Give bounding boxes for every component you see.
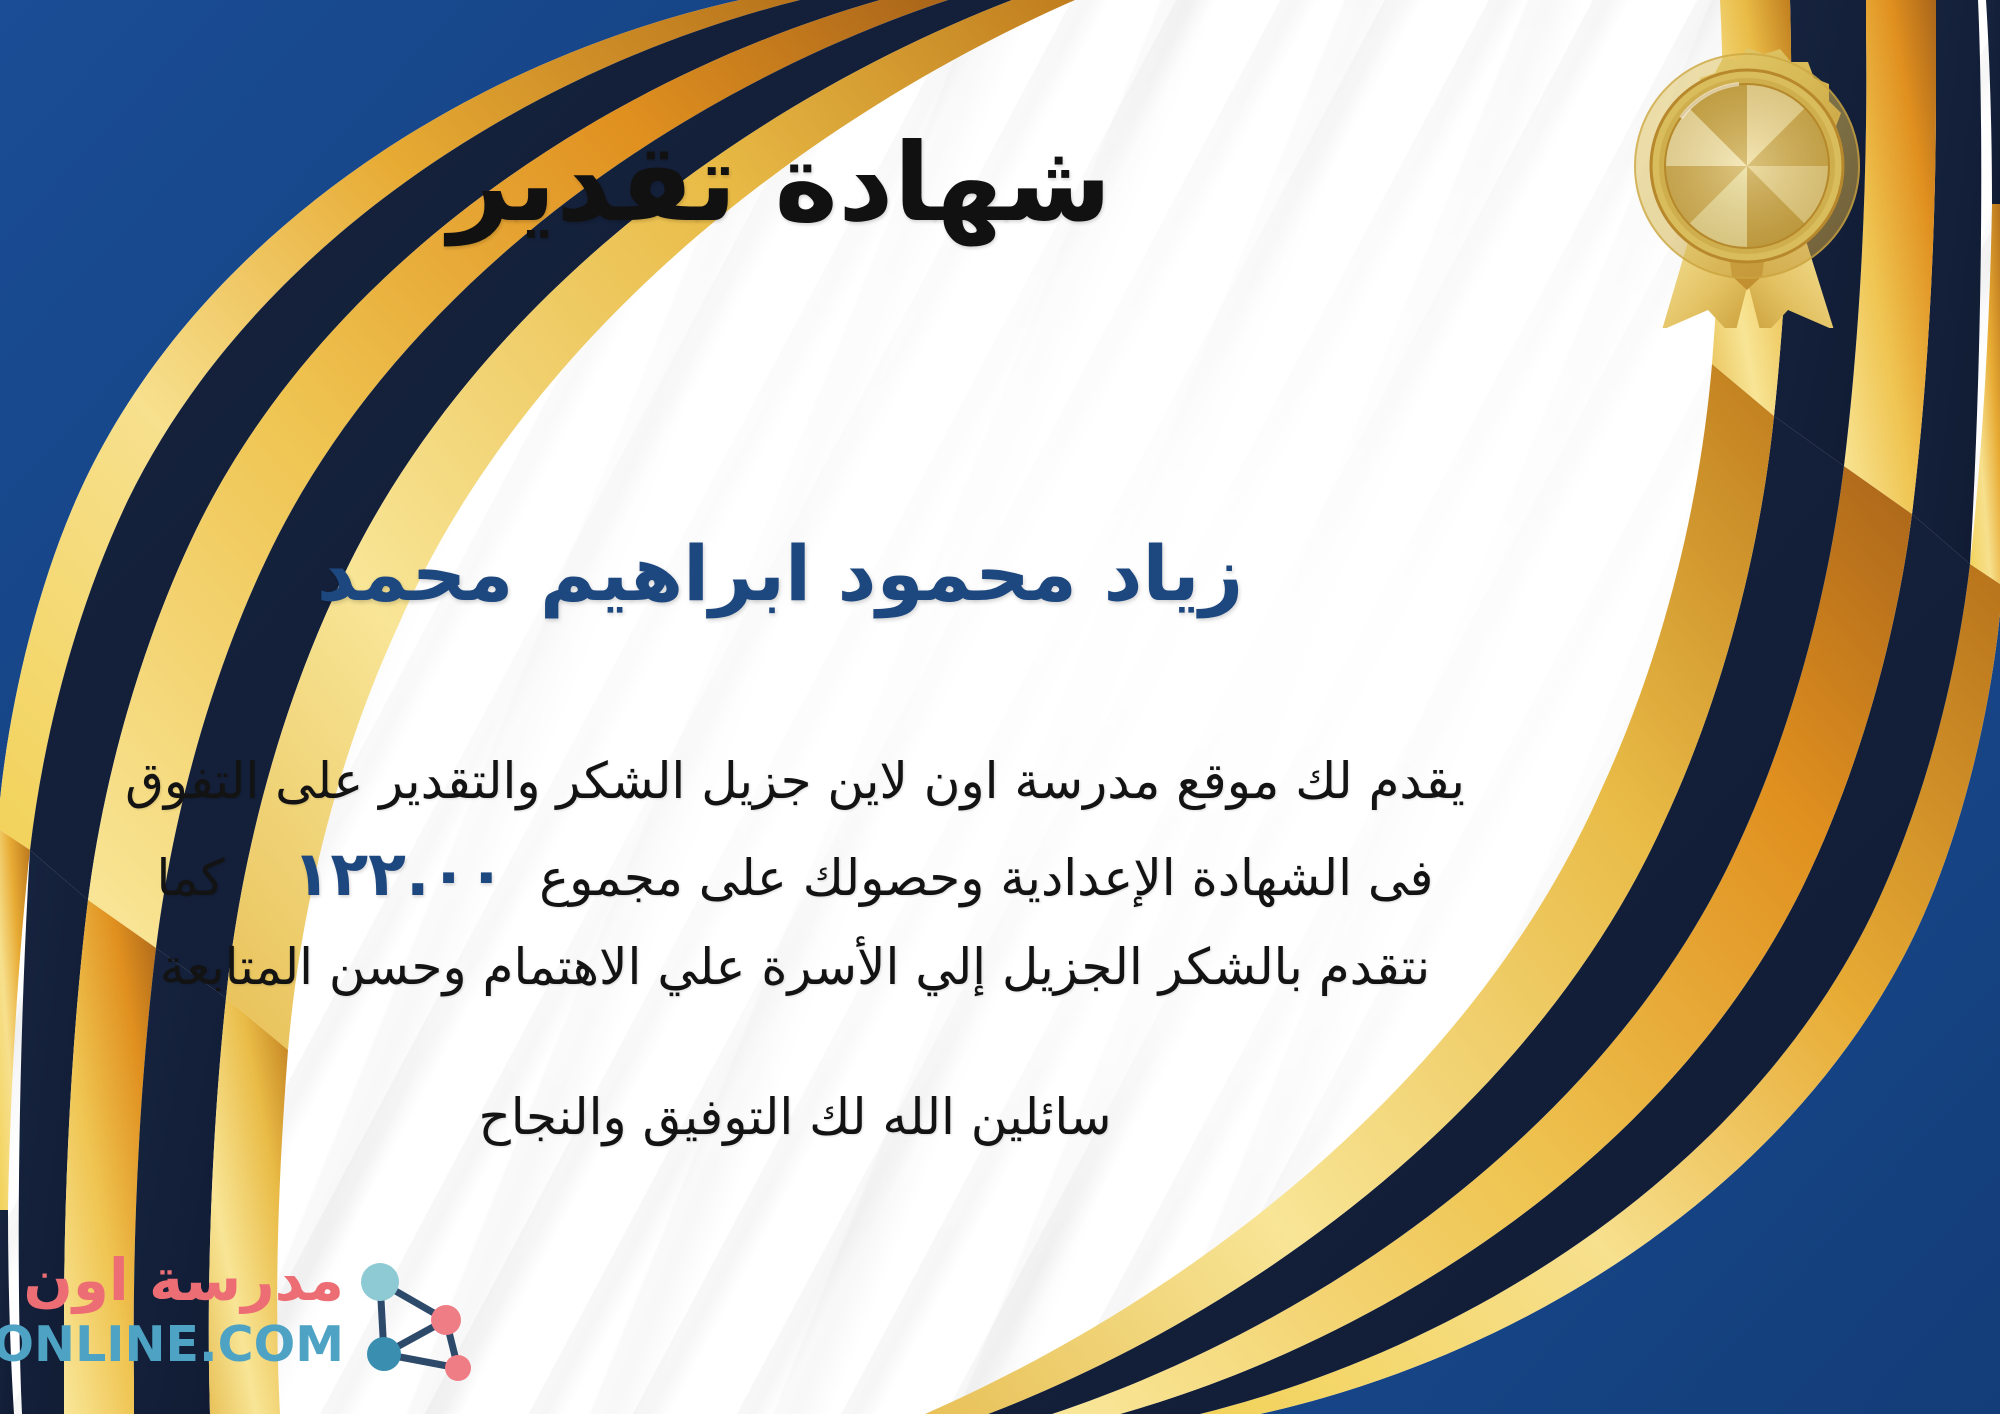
closing-wish: سائلين الله لك التوفيق والنجاح xyxy=(50,1080,1540,1155)
certificate-body: يقدم لك موقع مدرسة اون لاين جزيل الشكر و… xyxy=(50,740,1540,1009)
recipient-name: زياد محمود ابراهيم محمد xyxy=(0,528,1560,619)
body-line-2-text: فى الشهادة الإعدادية وحصولك على مجموع xyxy=(539,849,1433,907)
grade-total-value: ١٢٢.٠٠ xyxy=(258,837,539,910)
network-nodes-icon xyxy=(350,1258,486,1384)
brand-website-url: MADRSA-ONLINE.COM xyxy=(0,1316,344,1373)
body-line-1: يقدم لك موقع مدرسة اون لاين جزيل الشكر و… xyxy=(50,740,1540,823)
body-line-2-suffix: كما xyxy=(157,849,225,907)
body-line-3: نتقدم بالشكر الجزيل إلي الأسرة علي الاهت… xyxy=(50,926,1540,1009)
page-title: شهادة تقدير xyxy=(0,120,1560,247)
certificate-content: شهادة تقدير زياد محمود ابراهيم محمد يقدم… xyxy=(0,0,2000,1414)
brand-arabic-name: مدرسة اون لاين xyxy=(0,1246,344,1314)
body-line-2: فى الشهادة الإعدادية وحصولك على مجموع١٢٢… xyxy=(50,823,1540,926)
certificate-page: شهادة تقدير زياد محمود ابراهيم محمد يقدم… xyxy=(0,0,2000,1414)
brand-logo[interactable]: مدرسة اون لاين MADRSA-ONLINE.COM xyxy=(24,1240,494,1390)
